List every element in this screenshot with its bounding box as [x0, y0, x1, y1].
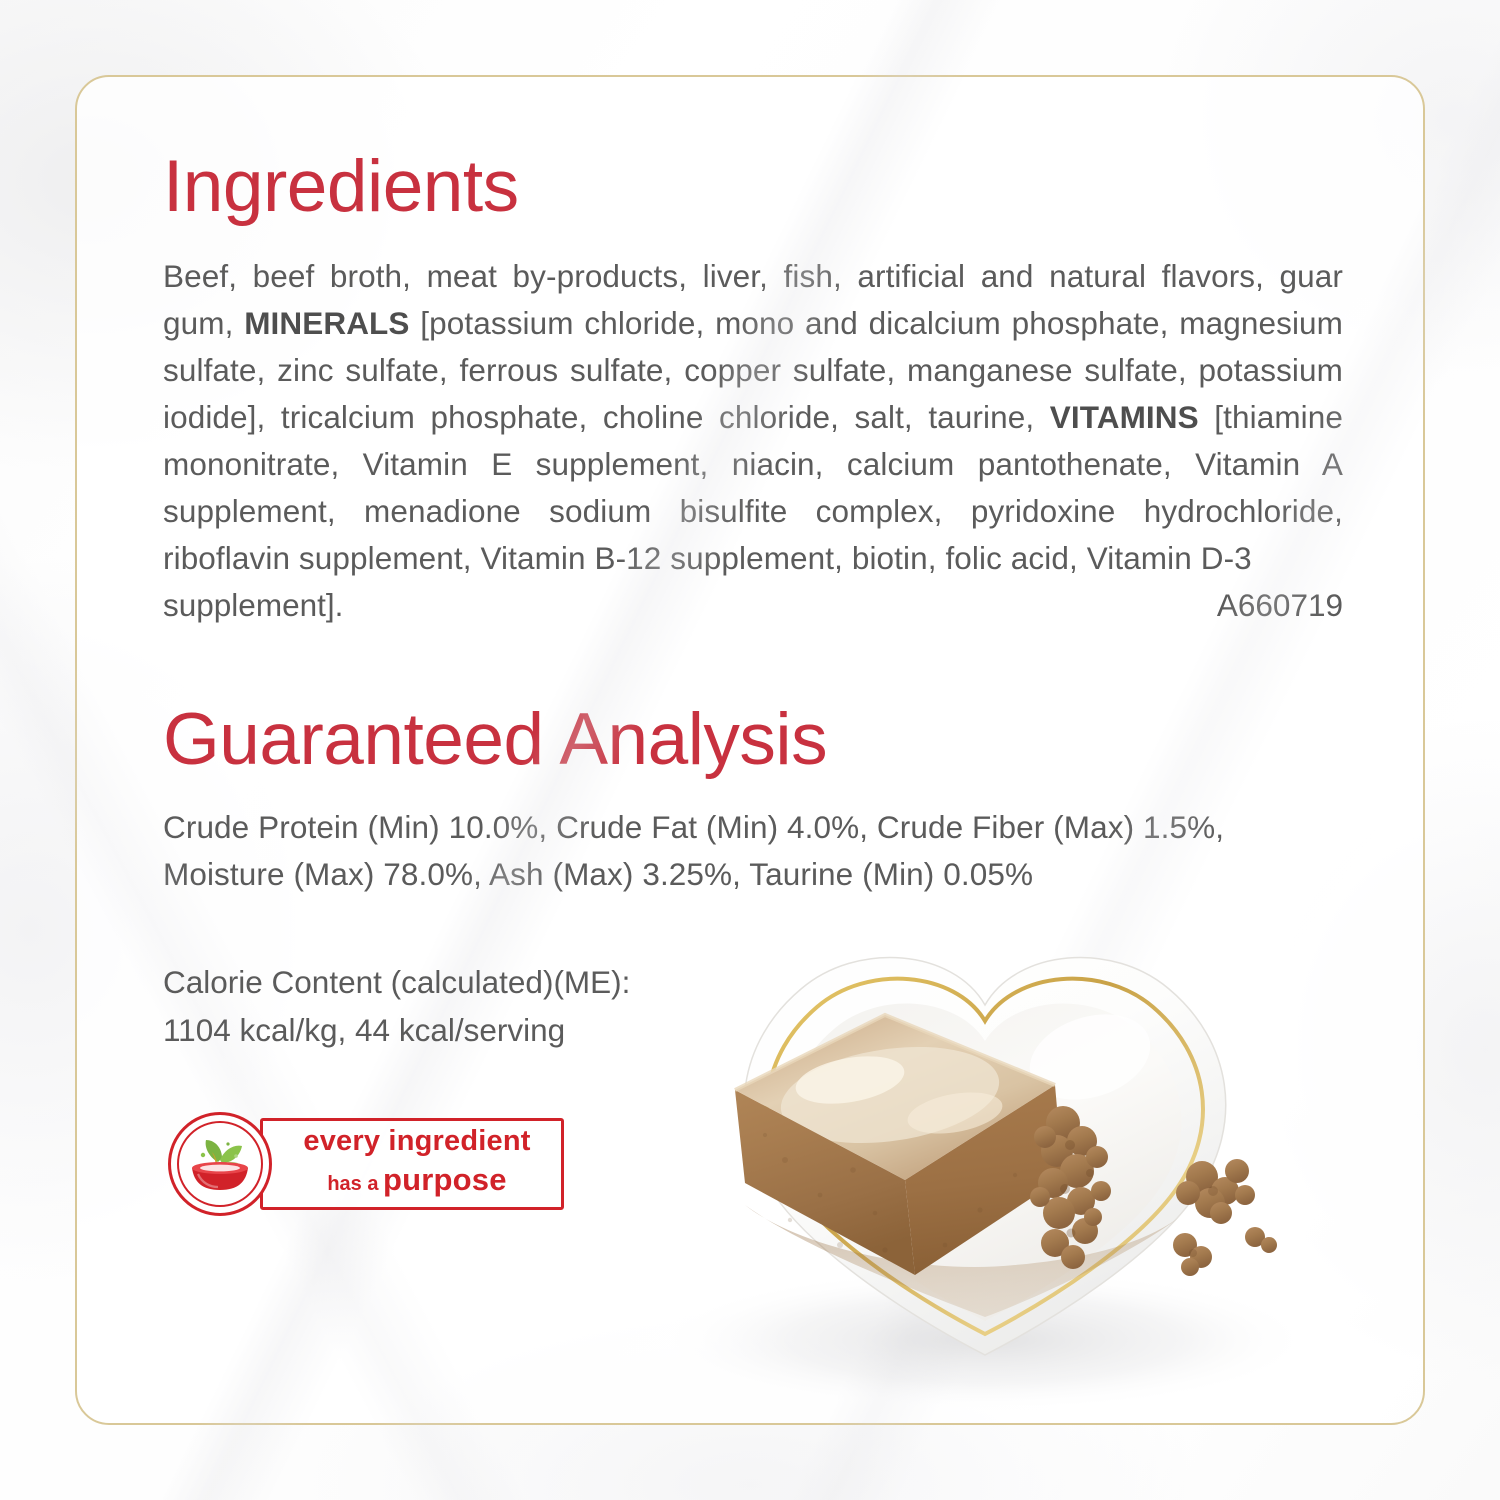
ingredients-final-line: supplement]. A660719: [163, 582, 1343, 629]
badge-line-2: has a purpose: [280, 1160, 554, 1206]
guaranteed-analysis-line-2: Moisture (Max) 78.0%, Ash (Max) 3.25%, T…: [163, 851, 1363, 898]
label-content: Ingredients Beef, beef broth, meat by-pr…: [163, 150, 1343, 1054]
bowl-icon: [192, 1162, 248, 1190]
ingredients-paragraph: Beef, beef broth, meat by-products, live…: [163, 253, 1343, 582]
page-background: Ingredients Beef, beef broth, meat by-pr…: [0, 0, 1500, 1500]
product-code: A660719: [1217, 582, 1343, 629]
badge-text: every ingredient has a purpose: [280, 1122, 554, 1206]
badge-has-a: has a: [327, 1173, 378, 1195]
ingredients-final-text: supplement].: [163, 582, 343, 629]
vitamins-label: VITAMINS: [1050, 399, 1199, 435]
bowl-leaves-glyph: [184, 1128, 256, 1200]
guaranteed-analysis-section: Guaranteed Analysis Crude Protein (Min) …: [163, 703, 1343, 898]
ingredients-heading: Ingredients: [163, 150, 1343, 223]
badge-purpose: purpose: [383, 1162, 507, 1197]
bowl-with-leaves-icon: [168, 1112, 272, 1216]
every-ingredient-badge[interactable]: every ingredient has a purpose: [168, 1112, 564, 1216]
calorie-content-section: Calorie Content (calculated)(ME): 1104 k…: [163, 958, 1343, 1054]
calorie-content-value: 1104 kcal/kg, 44 kcal/serving: [163, 1006, 1343, 1054]
calorie-content-label: Calorie Content (calculated)(ME):: [163, 958, 1343, 1006]
guaranteed-analysis-values: Crude Protein (Min) 10.0%, Crude Fat (Mi…: [163, 804, 1363, 898]
guaranteed-analysis-line-1: Crude Protein (Min) 10.0%, Crude Fat (Mi…: [163, 804, 1363, 851]
guaranteed-analysis-heading: Guaranteed Analysis: [163, 703, 1343, 776]
badge-line-1: every ingredient: [280, 1122, 554, 1160]
minerals-label: MINERALS: [244, 305, 409, 341]
